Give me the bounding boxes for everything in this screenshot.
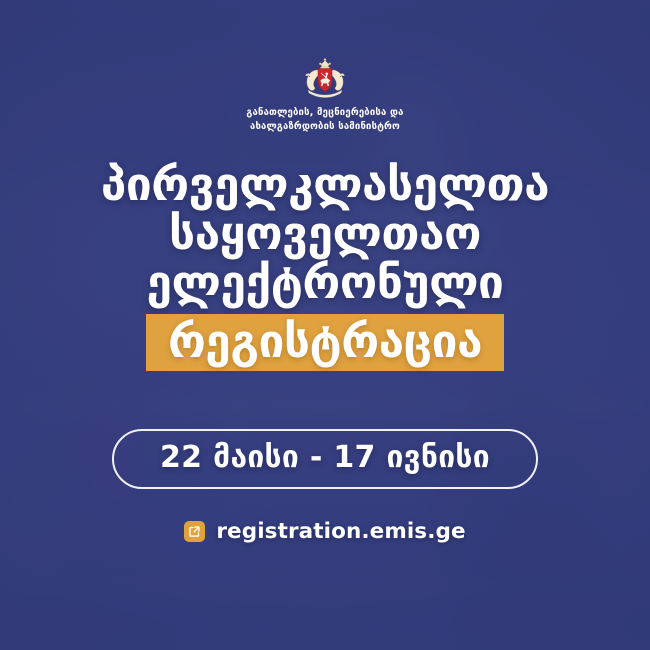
- poster-header: განათლების, მეცნიერებისა და ახალგაზრდობი…: [246, 58, 403, 134]
- date-range-badge: 22 მაისი - 17 ივნისი: [112, 429, 538, 489]
- ministry-name: განათლების, მეცნიერებისა და ახალგაზრდობი…: [246, 106, 403, 134]
- ministry-name-line2: ახალგაზრდობის სამინისტრო: [246, 120, 403, 134]
- headline-highlight: რეგისტრაცია: [146, 314, 504, 371]
- headline-line-3: ელექტრონული: [101, 258, 549, 307]
- poster-canvas: განათლების, მეცნიერებისა და ახალგაზრდობი…: [0, 0, 650, 650]
- headline-line-1: პირველკლასელთა: [101, 160, 549, 209]
- poster-headline: პირველკლასელთა საყოველთაო ელექტრონული რე…: [101, 160, 549, 371]
- registration-url-text[interactable]: registration.emis.ge: [216, 519, 465, 544]
- headline-line-2: საყოველთაო: [101, 209, 549, 258]
- external-link-icon: [184, 521, 205, 542]
- ministry-name-line1: განათლების, მეცნიერებისა და: [246, 106, 403, 120]
- georgia-coat-of-arms-icon: [303, 58, 347, 100]
- poster-content: განათლების, მეცნიერებისა და ახალგაზრდობი…: [0, 0, 650, 650]
- registration-url-row[interactable]: registration.emis.ge: [184, 519, 465, 544]
- headline-highlight-wrap: რეგისტრაცია: [101, 314, 549, 371]
